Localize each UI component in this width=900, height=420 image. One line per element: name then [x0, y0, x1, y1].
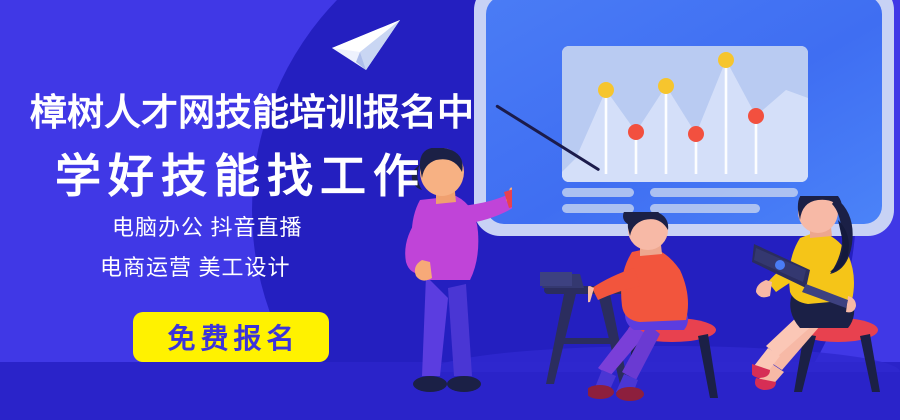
student-seated-figure: [588, 212, 728, 407]
subtitle-line-2: 电商运营 美工设计: [100, 250, 291, 282]
paper-plane-icon: [330, 18, 402, 76]
headline-secondary: 学好技能找工作: [55, 140, 426, 206]
whiteboard-chart: [562, 46, 808, 182]
subtitle-line-1: 电脑办公 抖音直播: [112, 210, 303, 242]
headline-primary: 樟树人才网技能培训报名中: [30, 82, 474, 136]
free-signup-button[interactable]: 免费报名: [133, 312, 329, 362]
promo-banner: 樟树人才网技能培训报名中 学好技能找工作 电脑办公 抖音直播 电商运营 美工设计…: [0, 0, 900, 420]
student-laptop-figure: [752, 196, 898, 401]
